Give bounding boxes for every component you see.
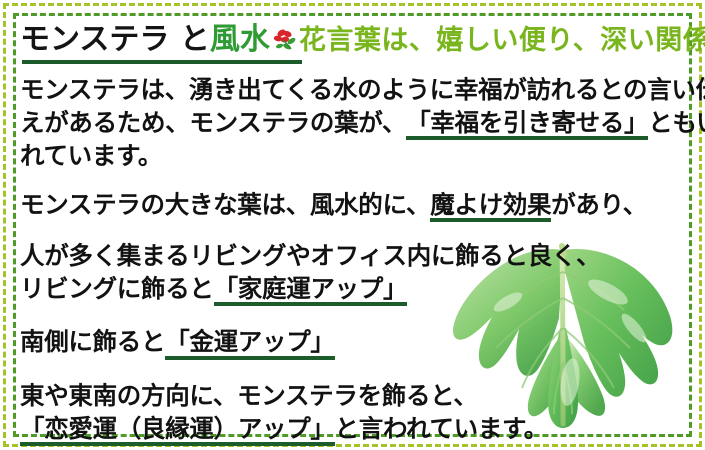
paragraph-4-line-1: 南側に飾ると「金運アップ」 xyxy=(20,326,685,360)
paragraph-1-line-2: えがあるため、モンステラの葉が、「幸福を引き寄せる」ともいわ xyxy=(20,107,685,141)
highlighted-phrase: 魔よけ効果 xyxy=(430,189,551,223)
text-segment: があり、 xyxy=(551,190,647,219)
highlighted-phrase: 「金運アップ」 xyxy=(165,326,334,360)
paragraph-1: モンステラは、湧き出てくる水のように幸福が訪れるとの言い伝 えがあるため、モンス… xyxy=(20,74,685,173)
highlighted-phrase: 「幸福を引き寄せる」 xyxy=(406,107,648,141)
title-part-olive: 花言葉は、嬉しい便り、深い関係 xyxy=(299,27,705,54)
text-segment: モンステラの大きな葉は、風水的に、 xyxy=(20,190,430,219)
text-segment: れています。 xyxy=(20,141,162,170)
paragraph-5-line-2: 「恋愛運（良縁運）アップ」と言われています。 xyxy=(20,413,685,447)
paragraph-2-line-1: モンステラの大きな葉は、風水的に、魔よけ効果があり、 xyxy=(20,189,685,223)
paragraph-1-line-1: モンステラは、湧き出てくる水のように幸福が訪れるとの言い伝 xyxy=(20,74,685,107)
text-segment: 人が多く集まるリビングやオフィス内に飾ると良く、 xyxy=(20,241,600,270)
paragraph-4: 南側に飾ると「金運アップ」 xyxy=(20,326,685,360)
flower-icon xyxy=(272,27,298,53)
paragraph-3-line-1: 人が多く集まるリビングやオフィス内に飾ると良く、 xyxy=(20,240,685,273)
paragraph-3-line-2: リビングに飾ると「家庭運アップ」 xyxy=(20,273,685,307)
text-segment: 南側に飾ると xyxy=(20,327,165,356)
text-segment: ともいわ xyxy=(648,108,705,137)
text-segment: と言われています。 xyxy=(335,414,548,443)
title-part-black: モンステラ と xyxy=(20,25,210,55)
body-text: モンステラは、湧き出てくる水のように幸福が訪れるとの言い伝 えがあるため、モンス… xyxy=(20,74,685,446)
paragraph-2: モンステラの大きな葉は、風水的に、魔よけ効果があり、 xyxy=(20,189,685,223)
page-title: モンステラ と 風水 xyxy=(20,18,685,62)
paragraph-5: 東や東南の方向に、モンステラを飾ると、 「恋愛運（良縁運）アップ」と言われていま… xyxy=(20,380,685,446)
text-segment: 東や東南の方向に、モンステラを飾ると、 xyxy=(20,381,478,410)
title-underline xyxy=(22,60,302,64)
paragraph-5-line-1: 東や東南の方向に、モンステラを飾ると、 xyxy=(20,380,685,413)
poster-root: モンステラ と 風水 xyxy=(0,0,705,450)
poster-content: モンステラ と 風水 xyxy=(0,0,705,450)
text-segment: リビングに飾ると xyxy=(20,274,214,303)
paragraph-3: 人が多く集まるリビングやオフィス内に飾ると良く、 リビングに飾ると「家庭運アップ… xyxy=(20,240,685,306)
paragraph-1-line-3: れています。 xyxy=(20,140,685,173)
highlighted-phrase: 「恋愛運（良縁運）アップ」 xyxy=(20,413,335,447)
text-segment: モンステラは、湧き出てくる水のように幸福が訪れるとの言い伝 xyxy=(20,75,705,104)
title-part-green: 風水 xyxy=(210,25,270,55)
highlighted-phrase: 「家庭運アップ」 xyxy=(214,273,408,307)
text-segment: えがあるため、モンステラの葉が、 xyxy=(20,108,406,137)
